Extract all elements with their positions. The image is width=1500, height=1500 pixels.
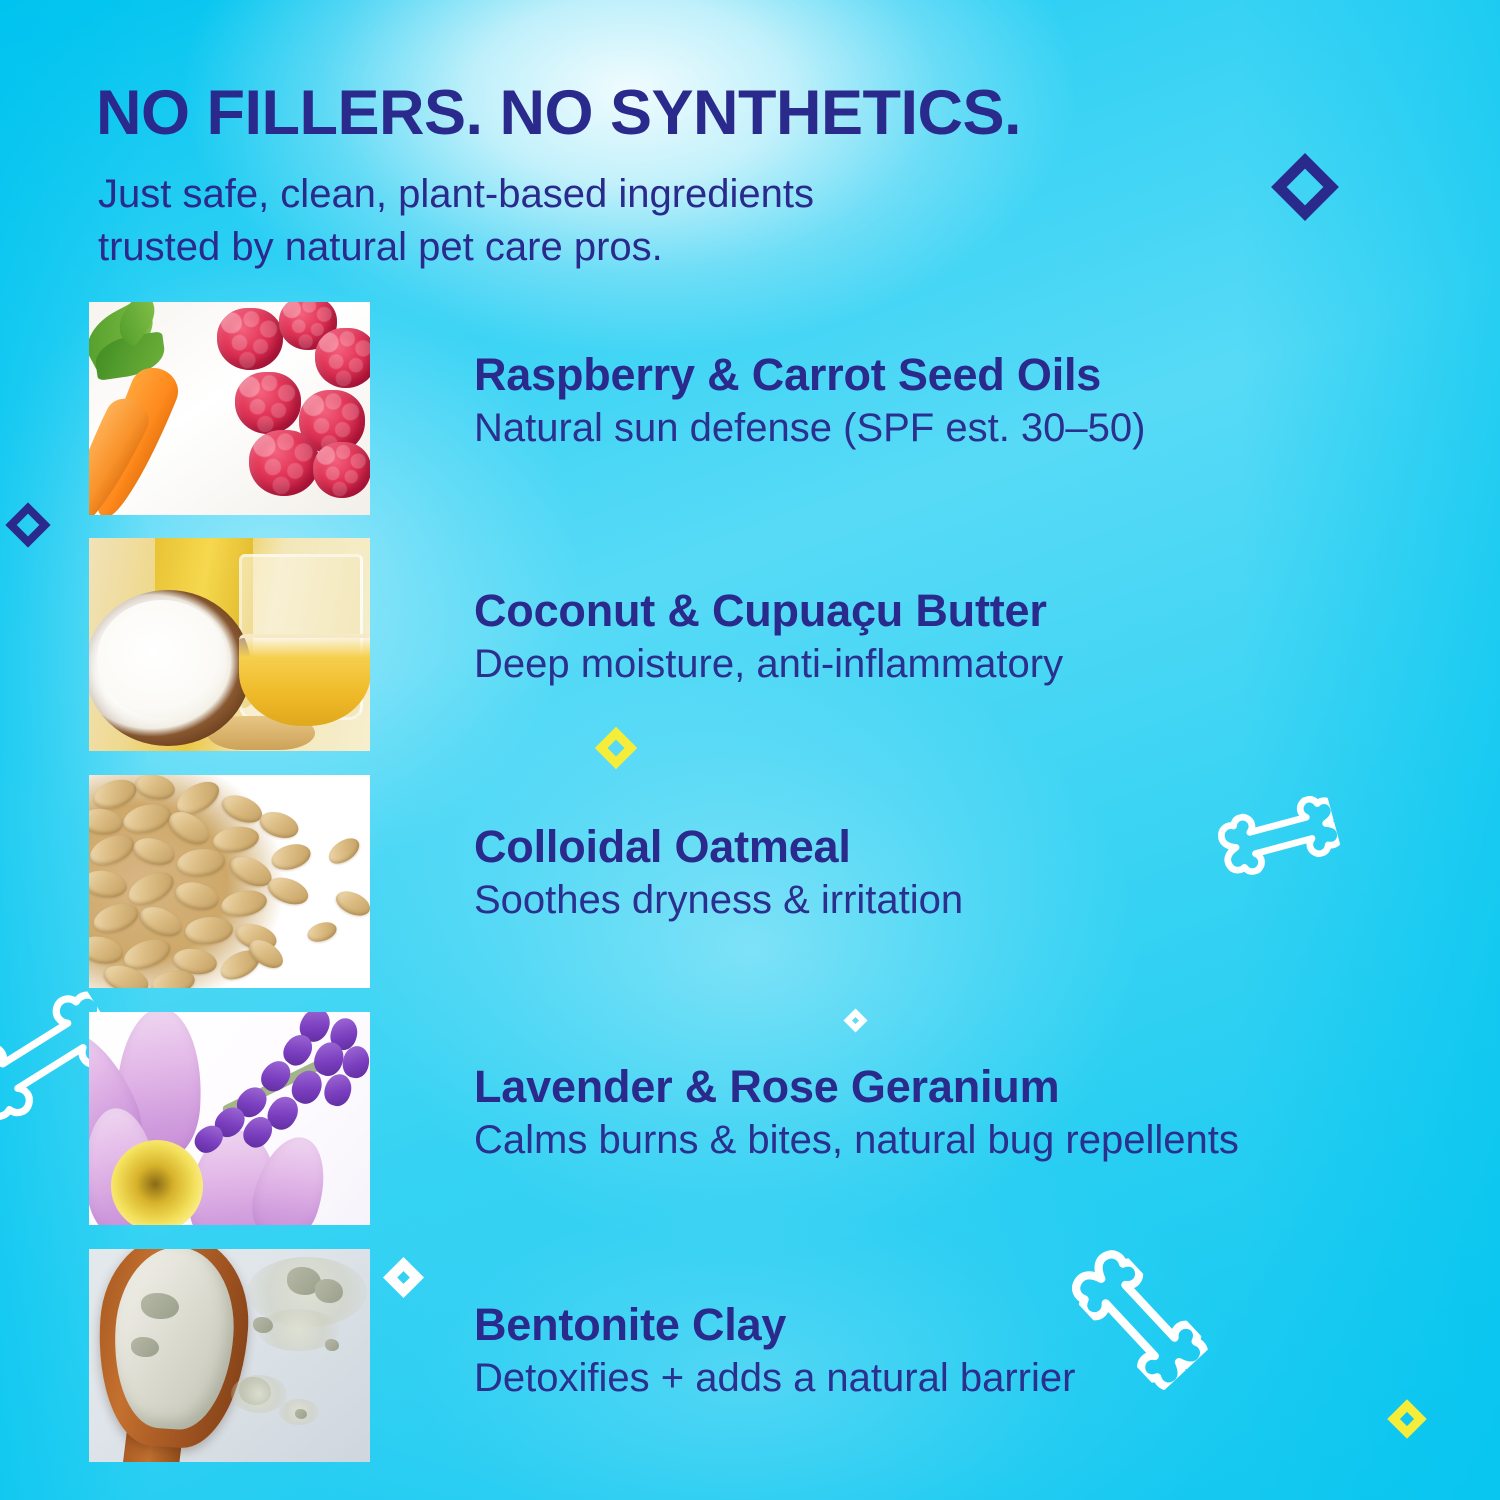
ingredient-title-3: Colloidal Oatmeal	[474, 822, 963, 872]
ingredient-image-carrots-and-raspberries	[89, 302, 370, 515]
ingredient-text-block-3: Colloidal Oatmeal Soothes dryness & irri…	[474, 822, 963, 924]
ingredient-title-5: Bentonite Clay	[474, 1300, 1075, 1350]
ingredient-description-2: Deep moisture, anti-inflammatory	[474, 640, 1063, 689]
ingredient-image-bentonite-clay-spoon	[89, 1249, 370, 1462]
ingredient-description-4: Calms burns & bites, natural bug repelle…	[474, 1116, 1239, 1165]
ingredient-infographic-poster: NO FILLERS. NO SYNTHETICS. Just safe, cl…	[0, 0, 1500, 1500]
ingredient-title-4: Lavender & Rose Geranium	[474, 1062, 1239, 1112]
page-subtitle: Just safe, clean, plant-based ingredient…	[98, 168, 1198, 274]
page-subtitle-line-1: Just safe, clean, plant-based ingredient…	[98, 168, 1198, 221]
ingredient-text-block-4: Lavender & Rose Geranium Calms burns & b…	[474, 1062, 1239, 1164]
ingredient-text-block-1: Raspberry & Carrot Seed Oils Natural sun…	[474, 350, 1145, 452]
ingredient-title-2: Coconut & Cupuaçu Butter	[474, 586, 1063, 636]
ingredient-image-coconut-and-oil	[89, 538, 370, 751]
page-subtitle-line-2: trusted by natural pet care pros.	[98, 221, 1198, 274]
ingredient-title-1: Raspberry & Carrot Seed Oils	[474, 350, 1145, 400]
page-title: NO FILLERS. NO SYNTHETICS.	[96, 82, 1356, 145]
ingredient-image-oat-flakes	[89, 775, 370, 988]
ingredient-text-block-2: Coconut & Cupuaçu Butter Deep moisture, …	[474, 586, 1063, 688]
background-edge-right	[1240, 0, 1500, 1500]
ingredient-text-block-5: Bentonite Clay Detoxifies + adds a natur…	[474, 1300, 1075, 1402]
ingredient-description-1: Natural sun defense (SPF est. 30–50)	[474, 404, 1145, 453]
ingredient-description-3: Soothes dryness & irritation	[474, 876, 963, 925]
ingredient-description-5: Detoxifies + adds a natural barrier	[474, 1354, 1075, 1403]
ingredient-image-lavender-and-flower	[89, 1012, 370, 1225]
